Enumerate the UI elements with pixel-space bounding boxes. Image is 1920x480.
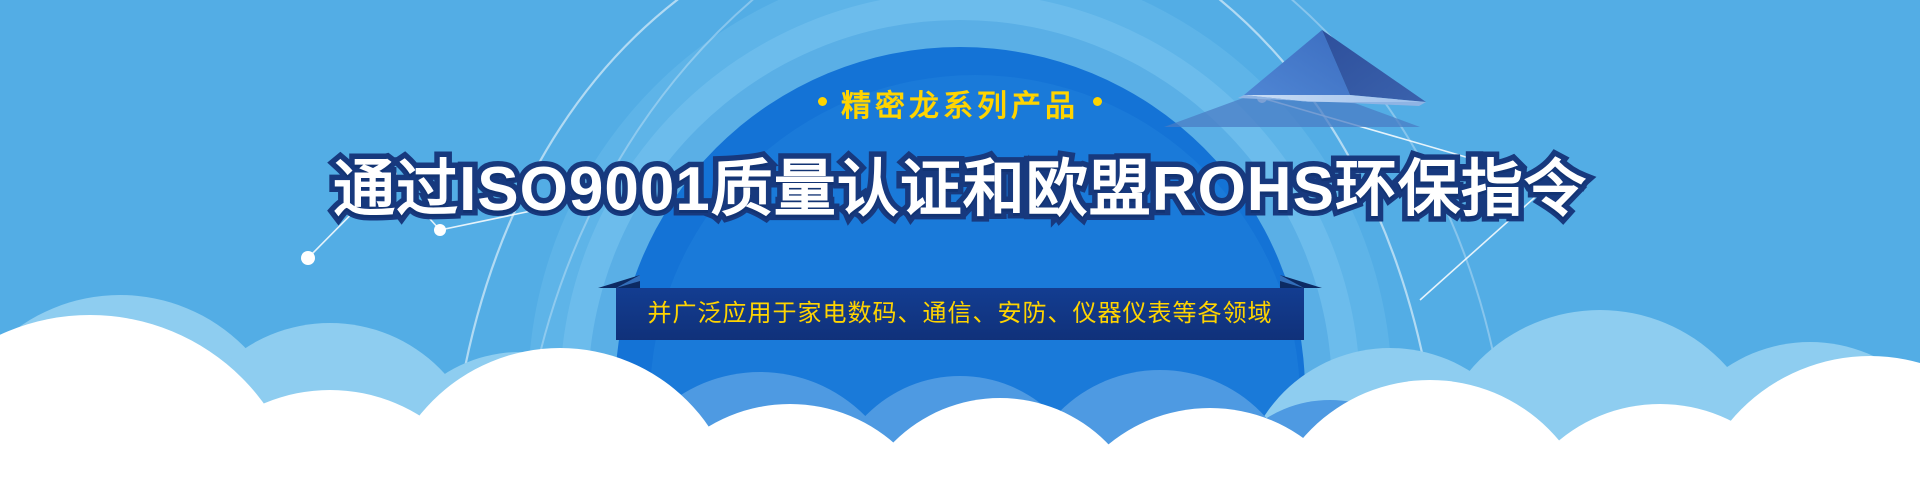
banner-headline: 通过ISO9001质量认证和欧盟ROHS环保指令 (333, 150, 1587, 230)
banner-headline-wrap: 通过ISO9001质量认证和欧盟ROHS环保指令 (0, 150, 1920, 230)
banner-subtitle-ribbon: 并广泛应用于家电数码、通信、安防、仪器仪表等各领域 (616, 288, 1304, 340)
ribbon-fold-left-icon (598, 275, 640, 288)
kicker-dot-right (1093, 97, 1102, 106)
kicker-dot-left (818, 97, 827, 106)
banner-background-art (0, 0, 1920, 480)
ribbon-fold-right-icon (1280, 275, 1322, 288)
kicker-label: 精密龙系列产品 (841, 90, 1079, 123)
banner-kicker: 精密龙系列产品 (0, 92, 1920, 122)
node-dot (301, 251, 315, 265)
banner-subtitle: 并广泛应用于家电数码、通信、安防、仪器仪表等各领域 (616, 288, 1304, 340)
promo-banner: 精密龙系列产品 通过ISO9001质量认证和欧盟ROHS环保指令 并广泛应用于家… (0, 0, 1920, 480)
